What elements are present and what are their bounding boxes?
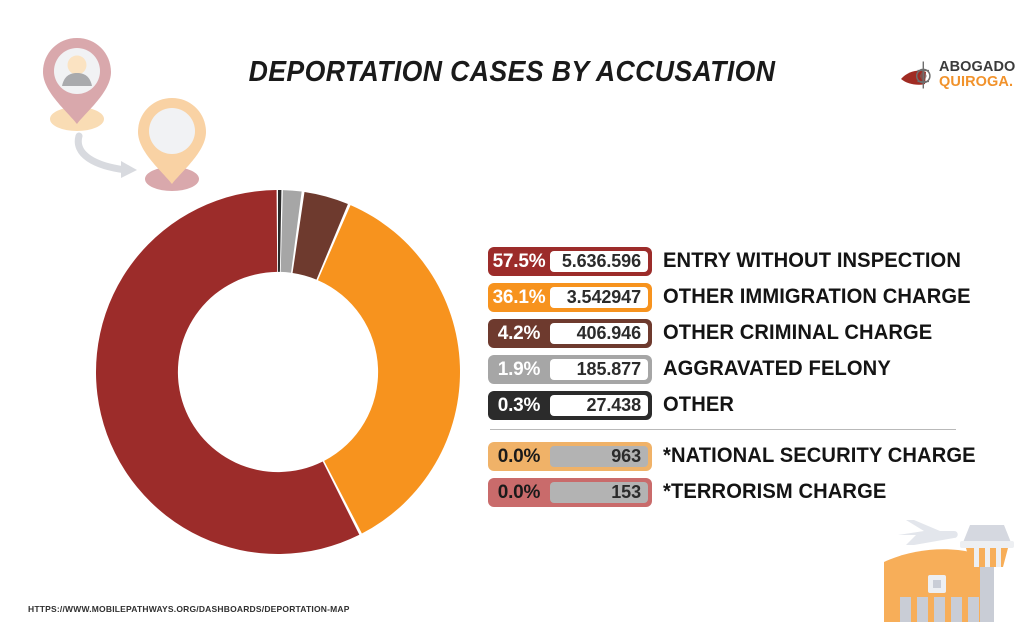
donut-segment-other-immigration-charge[interactable] <box>318 205 460 533</box>
logo-wordmark: ABOGADO QUIROGA. <box>939 60 1015 90</box>
legend-percent: 0.0% <box>488 483 550 502</box>
infographic-canvas: DEPORTATION CASES BY ACCUSATION ABOGADO … <box>0 0 1024 640</box>
legend-row[interactable]: 4.2%406.946OTHER CRIMINAL CHARGE <box>488 318 958 348</box>
legend-percent: 36.1% <box>488 288 550 307</box>
legend-label: AGGRAVATED FELONY <box>663 357 891 381</box>
map-pins-illustration <box>22 26 222 196</box>
legend-label: *NATIONAL SECURITY CHARGE <box>663 444 976 468</box>
legend-value: 27.438 <box>550 395 648 416</box>
legend-label: ENTRY WITHOUT INSPECTION <box>663 249 961 273</box>
legend-main-rows: 57.5%5.636.596ENTRY WITHOUT INSPECTION36… <box>488 246 958 420</box>
source-url: HTTPS://WWW.MOBILEPATHWAYS.ORG/DASHBOARD… <box>28 604 350 614</box>
abogado-quiroga-emblem-icon <box>899 60 941 92</box>
legend-divider <box>490 429 956 430</box>
legend-label: OTHER <box>663 393 734 417</box>
legend-percent: 0.0% <box>488 447 550 466</box>
legend-percent: 1.9% <box>488 360 550 379</box>
legend-value: 3.542947 <box>550 287 648 308</box>
legend-pill: 36.1%3.542947 <box>488 283 652 312</box>
legend-pill: 0.0%153 <box>488 478 652 507</box>
chart-legend: 57.5%5.636.596ENTRY WITHOUT INSPECTION36… <box>488 246 958 513</box>
logo-line-abogado: ABOGADO <box>939 60 1015 75</box>
legend-percent: 57.5% <box>488 252 550 271</box>
legend-row[interactable]: 0.0%963*NATIONAL SECURITY CHARGE <box>488 441 958 471</box>
legend-row[interactable]: 57.5%5.636.596ENTRY WITHOUT INSPECTION <box>488 246 958 276</box>
legend-value: 185.877 <box>550 359 648 380</box>
donut-segments <box>96 190 460 554</box>
legend-percent: 0.3% <box>488 396 550 415</box>
legend-value: 5.636.596 <box>550 251 648 272</box>
donut-segment-other[interactable] <box>278 190 281 272</box>
legend-pill: 1.9%185.877 <box>488 355 652 384</box>
donut-chart <box>92 186 464 558</box>
legend-value: 406.946 <box>550 323 648 344</box>
legend-label: *TERRORISM CHARGE <box>663 480 886 504</box>
legend-row[interactable]: 1.9%185.877AGGRAVATED FELONY <box>488 354 958 384</box>
legend-row[interactable]: 36.1%3.542947OTHER IMMIGRATION CHARGE <box>488 282 958 312</box>
legend-label: OTHER CRIMINAL CHARGE <box>663 321 932 345</box>
legend-pill: 4.2%406.946 <box>488 319 652 348</box>
legend-label: OTHER IMMIGRATION CHARGE <box>663 285 971 309</box>
legend-pill: 57.5%5.636.596 <box>488 247 652 276</box>
migration-arrow-icon <box>78 136 126 170</box>
logo-line-quiroga: QUIROGA. <box>939 75 1015 90</box>
airport-illustration <box>862 487 1022 637</box>
legend-pill: 0.3%27.438 <box>488 391 652 420</box>
brand-logo: ABOGADO QUIROGA. <box>899 56 1014 98</box>
legend-percent: 4.2% <box>488 324 550 343</box>
legend-value: 153 <box>550 482 648 503</box>
legend-pill: 0.0%963 <box>488 442 652 471</box>
legend-value: 963 <box>550 446 648 467</box>
legend-row[interactable]: 0.3%27.438OTHER <box>488 390 958 420</box>
airplane-icon <box>898 520 958 545</box>
